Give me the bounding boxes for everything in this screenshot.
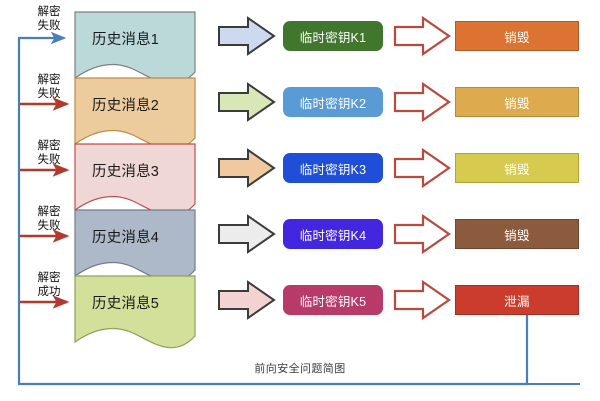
condition-label-5-line2: 成功: [23, 285, 75, 299]
key-box-4[interactable]: 临时密钥K4: [283, 219, 383, 249]
flow-arrow-4: [219, 216, 274, 252]
key-box-2[interactable]: 临时密钥K2: [283, 87, 383, 117]
outcome-arrow-2: [395, 84, 449, 120]
flow-arrows-message-to-key: [219, 18, 274, 318]
diagram-caption: 前向安全问题简图: [0, 360, 600, 376]
outcome-arrow-1: [395, 18, 449, 54]
condition-label-1-line1: 解密: [23, 5, 75, 19]
condition-label-4-line1: 解密: [23, 205, 75, 219]
condition-label-1-line2: 失败: [23, 19, 75, 33]
condition-label-1: 解密 失败: [23, 5, 75, 33]
key-box-5[interactable]: 临时密钥K5: [283, 285, 383, 315]
message-label-2: 历史消息2: [92, 94, 159, 115]
condition-label-2-line2: 失败: [23, 87, 75, 101]
diagram-canvas: 历史消息1 历史消息2 历史消息3 历史消息4 历史消息5 解密 失败 解密 失…: [0, 0, 600, 401]
flow-arrow-2: [219, 84, 274, 120]
condition-label-5: 解密 成功: [23, 271, 75, 299]
condition-label-3-line2: 失败: [23, 153, 75, 167]
outcome-box-5[interactable]: 泄漏: [455, 285, 579, 315]
message-label-3: 历史消息3: [92, 160, 159, 181]
condition-label-2: 解密 失败: [23, 73, 75, 101]
outcome-box-1[interactable]: 销毁: [455, 21, 579, 51]
condition-label-3-line1: 解密: [23, 139, 75, 153]
outcome-box-3[interactable]: 销毁: [455, 153, 579, 183]
key-box-1[interactable]: 临时密钥K1: [283, 21, 383, 51]
outcome-arrow-4: [395, 216, 449, 252]
message-label-4: 历史消息4: [92, 226, 159, 247]
message-label-5: 历史消息5: [92, 292, 159, 313]
condition-label-5-line1: 解密: [23, 271, 75, 285]
flow-arrows-key-to-outcome: [395, 18, 449, 318]
outcome-box-2[interactable]: 销毁: [455, 87, 579, 117]
condition-label-4: 解密 失败: [23, 205, 75, 233]
condition-label-3: 解密 失败: [23, 139, 75, 167]
diagram-graphics: [0, 0, 600, 401]
key-box-3[interactable]: 临时密钥K3: [283, 153, 383, 183]
condition-label-4-line2: 失败: [23, 219, 75, 233]
outcome-arrow-3: [395, 150, 449, 186]
outcome-arrow-5: [395, 282, 449, 318]
flow-arrow-5: [219, 282, 274, 318]
flow-arrow-1: [219, 18, 274, 54]
message-label-1: 历史消息1: [92, 28, 159, 49]
condition-label-2-line1: 解密: [23, 73, 75, 87]
flow-arrow-3: [219, 150, 274, 186]
outcome-box-4[interactable]: 销毁: [455, 219, 579, 249]
